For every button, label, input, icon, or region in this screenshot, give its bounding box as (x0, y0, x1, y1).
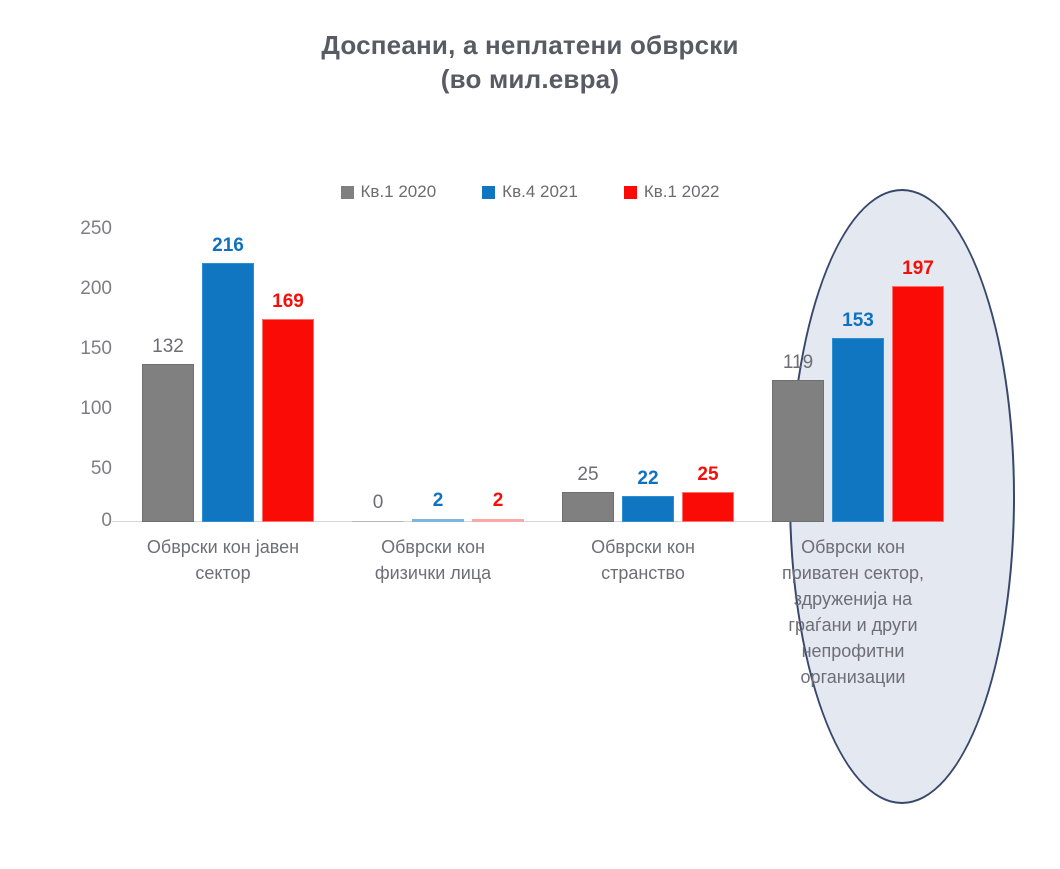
y-tick-0: 0 (40, 510, 112, 532)
bar-g1-kv1-2020[interactable] (142, 364, 194, 522)
bar-value-g4-kv1-2020: 119 (763, 352, 833, 374)
bar-g4-kv4-2021[interactable] (832, 338, 884, 522)
category-label-stranstvo-line-1: Обврски кон (534, 534, 752, 560)
category-label-stranstvo-line-2: странство (534, 560, 752, 586)
x-axis-category-labels: Обврски кон јавен сектор Обврски кон физ… (118, 534, 946, 734)
chart-title-line-1: Доспеани, а неплатени обврски (321, 30, 738, 60)
category-label-javen-sektor-line-2: сектор (114, 560, 332, 586)
bar-g3-kv1-2020[interactable] (562, 492, 614, 522)
bar-g3-kv4-2021[interactable] (622, 496, 674, 522)
category-label-privaten-sektor-line-6: организации (744, 664, 962, 690)
y-tick-250: 250 (40, 218, 112, 240)
category-label-privaten-sektor-line-3: здруженија на (744, 586, 962, 612)
category-label-fizicki-lica: Обврски кон физички лица (324, 534, 542, 586)
y-tick-150: 150 (40, 338, 112, 360)
y-axis: 250 200 150 100 50 0 (40, 210, 112, 534)
legend-label-kv1-2020: Кв.1 2020 (361, 182, 437, 202)
category-label-privaten-sektor-line-5: непрофитни (744, 638, 962, 664)
bar-value-g1-kv1-2020: 132 (133, 336, 203, 358)
bar-g4-kv1-2022[interactable] (892, 286, 944, 522)
category-label-privaten-sektor-line-2: приватен сектор, (744, 560, 962, 586)
category-label-privaten-sektor-line-4: граѓани и други (744, 612, 962, 638)
legend-swatch-icon-red (624, 186, 637, 199)
bar-g4-kv1-2020[interactable] (772, 380, 824, 522)
category-label-privaten-sektor: Обврски кон приватен сектор, здруженија … (744, 534, 962, 690)
category-label-stranstvo: Обврски кон странство (534, 534, 752, 586)
bar-value-g4-kv4-2021: 153 (823, 310, 893, 332)
bar-group-privaten-sektor: 119 153 197 (748, 222, 958, 522)
bar-g2-kv4-2021[interactable] (412, 519, 464, 522)
category-label-privaten-sektor-line-1: Обврски кон (744, 534, 962, 560)
bar-group-javen-sektor: 132 216 169 (118, 222, 328, 522)
bar-value-g1-kv1-2022: 169 (253, 291, 323, 313)
bar-g2-kv1-2022[interactable] (472, 519, 524, 522)
legend-label-kv1-2022: Кв.1 2022 (644, 182, 720, 202)
legend-item-kv4-2021[interactable]: Кв.4 2021 (482, 182, 578, 202)
bar-value-g2-kv1-2022: 2 (463, 490, 533, 512)
bar-g1-kv4-2021[interactable] (202, 263, 254, 522)
bar-value-g4-kv1-2022: 197 (883, 258, 953, 280)
legend-label-kv4-2021: Кв.4 2021 (502, 182, 578, 202)
category-label-fizicki-lica-line-1: Обврски кон (324, 534, 542, 560)
y-tick-200: 200 (40, 278, 112, 300)
bar-g3-kv1-2022[interactable] (682, 492, 734, 522)
bar-g2-kv1-2020[interactable] (352, 521, 404, 522)
legend-swatch-icon-gray (341, 186, 354, 199)
bar-g1-kv1-2022[interactable] (262, 319, 314, 522)
y-tick-100: 100 (40, 398, 112, 420)
bar-group-stranstvo: 25 22 25 (538, 222, 748, 522)
chart-title-line-2: (во мил.евра) (0, 62, 1060, 96)
category-label-javen-sektor-line-1: Обврски кон јавен (114, 534, 332, 560)
category-label-fizicki-lica-line-2: физички лица (324, 560, 542, 586)
legend-item-kv1-2022[interactable]: Кв.1 2022 (624, 182, 720, 202)
bar-value-g3-kv1-2022: 25 (673, 464, 743, 486)
chart-title: Доспеани, а неплатени обврски (во мил.ев… (0, 28, 1060, 96)
bar-groups: 132 216 169 0 2 2 (118, 222, 946, 522)
legend-item-kv1-2020[interactable]: Кв.1 2020 (341, 182, 437, 202)
bar-group-fizicki-lica: 0 2 2 (328, 222, 538, 522)
y-tick-50: 50 (40, 458, 112, 480)
category-label-javen-sektor: Обврски кон јавен сектор (114, 534, 332, 586)
bar-chart: Доспеани, а неплатени обврски (во мил.ев… (0, 0, 1060, 869)
legend-swatch-icon-blue (482, 186, 495, 199)
bar-value-g1-kv4-2021: 216 (193, 235, 263, 257)
